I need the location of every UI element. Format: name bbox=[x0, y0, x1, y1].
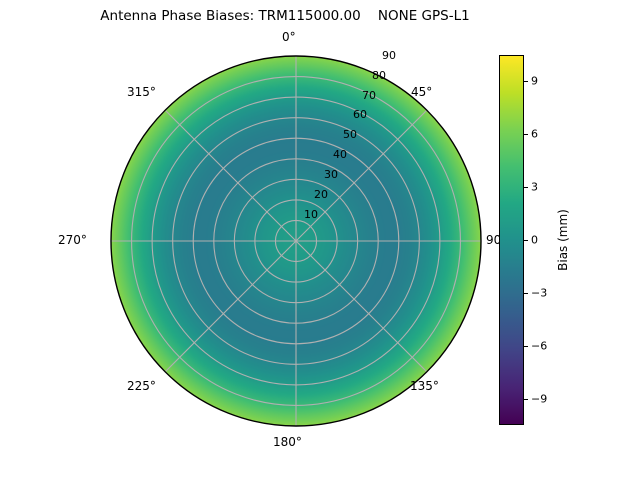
colorbar-tick-mark-3 bbox=[524, 240, 528, 241]
r-tick-80: 80 bbox=[358, 70, 386, 81]
r-tick-60: 60 bbox=[339, 109, 367, 120]
r-tick-10: 10 bbox=[290, 209, 318, 220]
colorbar-tick-label-2: 3 bbox=[531, 182, 538, 193]
theta-tick-45: 45° bbox=[411, 86, 432, 98]
polar-plot-svg bbox=[110, 55, 482, 427]
theta-tick-270: 270° bbox=[58, 234, 87, 246]
r-tick-90: 90 bbox=[368, 50, 396, 61]
r-tick-50: 50 bbox=[329, 129, 357, 140]
r-tick-30: 30 bbox=[310, 169, 338, 180]
colorbar-tick-mark-1 bbox=[524, 134, 528, 135]
r-tick-70: 70 bbox=[348, 90, 376, 101]
figure-canvas: Antenna Phase Biases: TRM115000.00 NONE … bbox=[0, 0, 640, 480]
colorbar-tick-label-0: 9 bbox=[531, 76, 538, 87]
colorbar-tick-mark-5 bbox=[524, 346, 528, 347]
r-tick-40: 40 bbox=[319, 149, 347, 160]
theta-tick-180: 180° bbox=[273, 436, 302, 448]
colorbar-tick-label-1: 6 bbox=[531, 129, 538, 140]
colorbar-axis-label: Bias (mm) bbox=[556, 209, 570, 271]
colorbar-tick-label-6: −9 bbox=[531, 393, 547, 404]
theta-tick-135: 135° bbox=[410, 380, 439, 392]
colorbar-tick-label-4: −3 bbox=[531, 287, 547, 298]
colorbar-tick-label-5: −6 bbox=[531, 340, 547, 351]
colorbar[interactable]: 9630−3−6−9 bbox=[499, 55, 524, 425]
polar-axes[interactable]: 0° 45° 90° 135° 180° 225° 270° 315° 10 2… bbox=[110, 55, 482, 427]
colorbar-tick-mark-4 bbox=[524, 293, 528, 294]
colorbar-gradient bbox=[499, 55, 524, 425]
colorbar-tick-label-3: 0 bbox=[531, 235, 538, 246]
colorbar-tick-mark-2 bbox=[524, 187, 528, 188]
angular-gridlines bbox=[111, 56, 481, 426]
theta-tick-225: 225° bbox=[127, 380, 156, 392]
theta-tick-0: 0° bbox=[282, 31, 296, 43]
colorbar-tick-mark-0 bbox=[524, 81, 528, 82]
theta-tick-315: 315° bbox=[127, 86, 156, 98]
page-title: Antenna Phase Biases: TRM115000.00 NONE … bbox=[0, 8, 570, 24]
r-tick-20: 20 bbox=[300, 189, 328, 200]
colorbar-tick-mark-6 bbox=[524, 399, 528, 400]
